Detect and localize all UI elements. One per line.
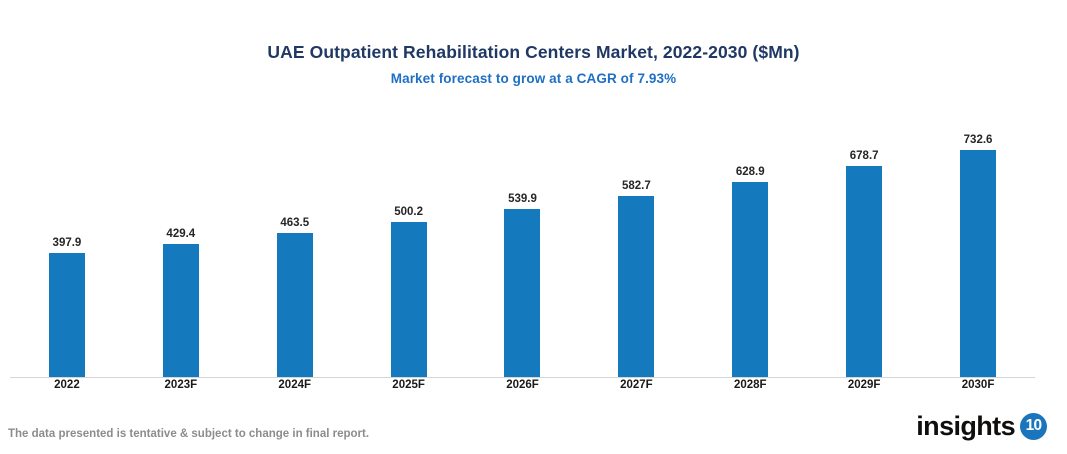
- category-label-2030F: 2030F: [962, 379, 995, 391]
- bar-2024F[interactable]: [277, 233, 313, 377]
- bar-value-label-2027F: 582.7: [622, 180, 651, 192]
- plot-area: 397.9429.4463.5500.2539.9582.7628.9678.7…: [10, 110, 1035, 378]
- category-label-2025F: 2025F: [392, 379, 425, 391]
- bar-value-label-2029F: 678.7: [850, 150, 879, 162]
- bar-2025F[interactable]: [391, 222, 427, 377]
- bar-value-label-2026F: 539.9: [508, 193, 537, 205]
- logo-badge-10: 10: [1020, 413, 1047, 440]
- bar-2030F[interactable]: [960, 150, 996, 377]
- bar-value-label-2030F: 732.6: [964, 134, 993, 146]
- bar-value-label-2028F: 628.9: [736, 166, 765, 178]
- bar-group: 500.2: [352, 110, 466, 377]
- bar-value-label-2025F: 500.2: [394, 206, 423, 218]
- category-label-2024F: 2024F: [278, 379, 311, 391]
- chart-subtitle: Market forecast to grow at a CAGR of 7.9…: [0, 71, 1067, 86]
- category-label-2022: 2022: [54, 379, 80, 391]
- bar-2026F[interactable]: [504, 209, 540, 377]
- bar-2023F[interactable]: [163, 244, 199, 377]
- category-label-2027F: 2027F: [620, 379, 653, 391]
- bar-group: 463.5: [238, 110, 352, 377]
- bar-2028F[interactable]: [732, 182, 768, 377]
- bar-group: 397.9: [10, 110, 124, 377]
- x-axis-line: [10, 377, 1035, 378]
- bar-value-label-2023F: 429.4: [166, 228, 195, 240]
- chart-title: UAE Outpatient Rehabilitation Centers Ma…: [0, 42, 1067, 63]
- category-label-2028F: 2028F: [734, 379, 767, 391]
- bar-group: 539.9: [466, 110, 580, 377]
- disclaimer-text: The data presented is tentative & subjec…: [8, 428, 369, 440]
- bar-group: 678.7: [807, 110, 921, 377]
- category-label-2023F: 2023F: [165, 379, 198, 391]
- bar-value-label-2024F: 463.5: [280, 217, 309, 229]
- category-axis: 20222023F2024F2025F2026F2027F2028F2029F2…: [10, 379, 1035, 399]
- bar-group: 582.7: [579, 110, 693, 377]
- category-label-2029F: 2029F: [848, 379, 881, 391]
- bar-value-label-2022: 397.9: [53, 237, 82, 249]
- category-label-2026F: 2026F: [506, 379, 539, 391]
- bar-group: 628.9: [693, 110, 807, 377]
- chart-page: UAE Outpatient Rehabilitation Centers Ma…: [0, 0, 1067, 454]
- bar-2027F[interactable]: [618, 196, 654, 377]
- bar-group: 732.6: [921, 110, 1035, 377]
- insights10-logo: insights 10: [916, 409, 1047, 443]
- bar-group: 429.4: [124, 110, 238, 377]
- logo-wordmark: insights: [916, 413, 1015, 440]
- bar-2022[interactable]: [49, 253, 85, 377]
- bar-2029F[interactable]: [846, 166, 882, 377]
